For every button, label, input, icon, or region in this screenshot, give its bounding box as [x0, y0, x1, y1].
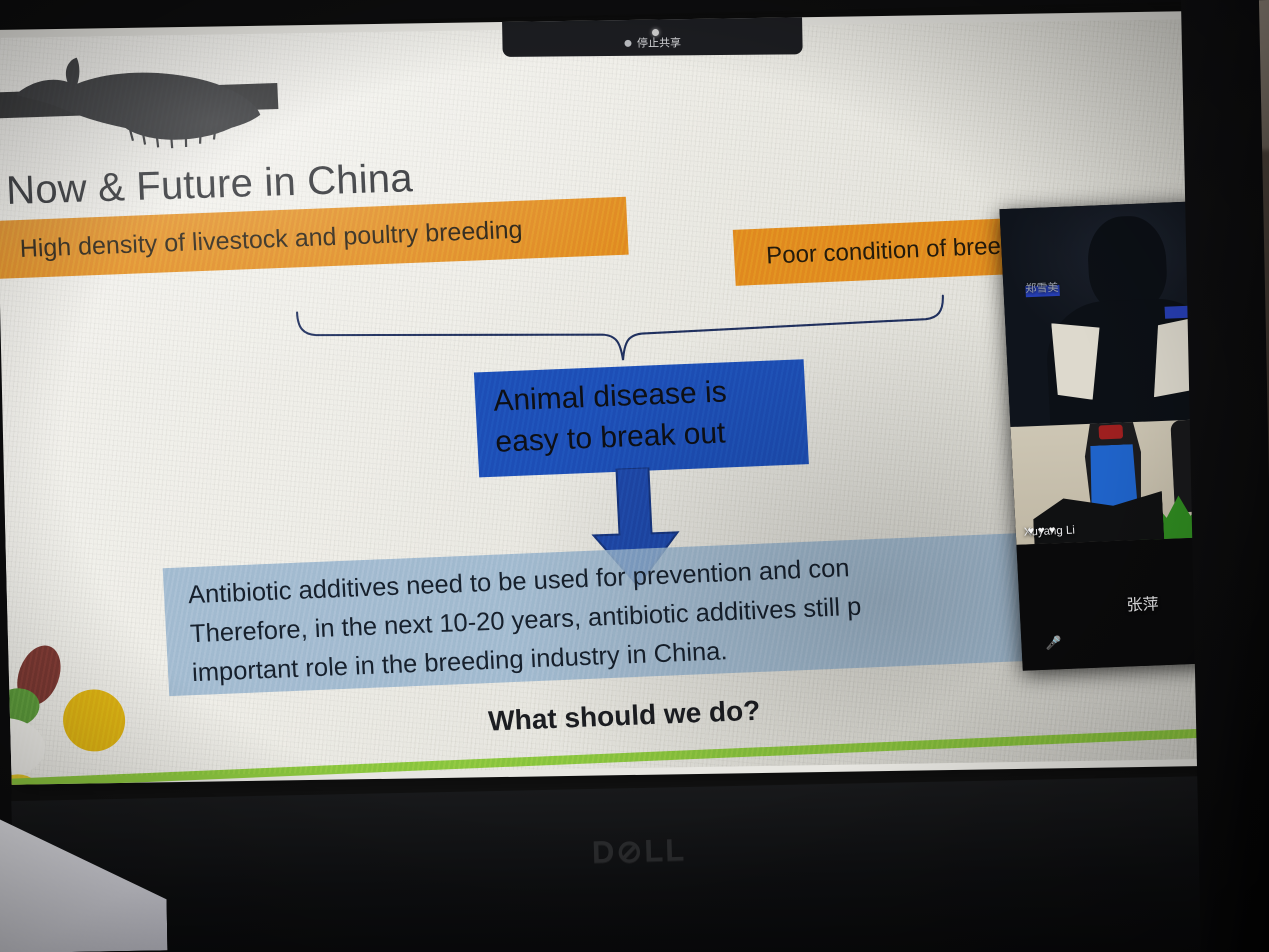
heart-icon-2: ♥ — [1038, 525, 1045, 537]
laptop-screen: Now & Future in China High density of li… — [0, 11, 1227, 785]
mic-muted-icon: 🎤 — [1045, 635, 1062, 652]
page-title: Now & Future in China — [5, 156, 413, 214]
video-tile-name-3: 张萍 — [1126, 590, 1159, 615]
cartoon-farmer-collar — [1098, 425, 1123, 440]
stop-share-label: 停止共享 — [637, 34, 681, 50]
capsule-pills-icon — [0, 627, 177, 785]
closing-question: What should we do? — [488, 695, 762, 738]
square-stop-icon — [624, 39, 631, 46]
effect-box-animal-disease: Animal disease is easy to break out — [474, 359, 809, 477]
reaction-hearts: ♥ ♥ ♥ — [1027, 524, 1055, 537]
whale-logo-icon — [6, 38, 289, 157]
screenshot-root: Now & Future in China High density of li… — [0, 0, 1269, 952]
heart-icon-3: ♥ — [1049, 524, 1056, 536]
stop-share-button[interactable]: 停止共享 — [624, 34, 681, 50]
dell-brand-logo: D⊘LL — [591, 831, 722, 875]
video-tile-name-1: 郑雪美 — [1025, 279, 1059, 296]
heart-icon-1: ♥ — [1027, 525, 1034, 537]
webcam-dot-icon — [652, 29, 659, 36]
